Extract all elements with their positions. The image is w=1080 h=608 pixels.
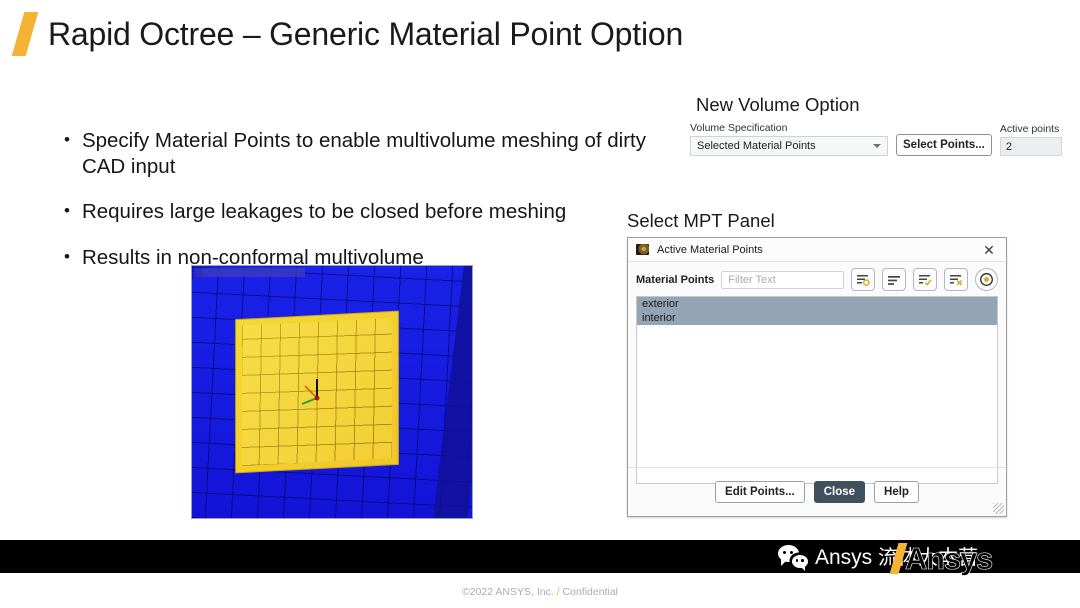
footer-separator: /	[557, 586, 560, 598]
slide-canvas: Rapid Octree – Generic Material Point Op…	[0, 0, 1080, 608]
bullet-icon: •	[64, 199, 70, 222]
bullet-text: Requires large leakages to be closed bef…	[82, 199, 664, 225]
bullet-icon: •	[64, 245, 70, 268]
list-check-icon[interactable]	[913, 268, 937, 291]
volume-specification-group: Volume Specification Selected Material P…	[690, 122, 888, 156]
mesh-screenshot-figure	[191, 265, 473, 519]
list-lines-icon[interactable]	[882, 268, 906, 291]
dialog-titlebar[interactable]: Active Material Points ✕	[628, 238, 1006, 262]
bullet-text: Specify Material Points to enable multiv…	[82, 128, 664, 180]
axis-triad-icon	[300, 374, 334, 408]
dialog-footer: Edit Points... Close Help	[628, 467, 1006, 516]
wechat-account-prefix: Ansys	[815, 546, 878, 569]
footer: ©2022 ANSYS, Inc. / Confidential	[0, 586, 1080, 598]
list-item[interactable]: interior	[637, 311, 997, 325]
dialog-title-text: Active Material Points	[657, 244, 980, 256]
accent-slash-icon	[12, 12, 39, 56]
edit-points-button[interactable]: Edit Points...	[715, 481, 805, 503]
active-points-group: Active points 2	[1000, 123, 1062, 156]
filter-toolbar: Material Points Filter Text	[628, 262, 1006, 296]
list-item: • Specify Material Points to enable mult…	[64, 128, 664, 180]
footer-copyright: ©2022 ANSYS, Inc.	[462, 586, 554, 598]
bullet-icon: •	[64, 128, 70, 151]
volume-specification-label: Volume Specification	[690, 122, 888, 134]
help-button[interactable]: Help	[874, 481, 919, 503]
volume-specification-value: Selected Material Points	[697, 140, 816, 152]
active-material-points-dialog: Active Material Points ✕ Material Points…	[627, 237, 1007, 517]
select-points-button[interactable]: Select Points...	[896, 134, 992, 156]
active-points-value: 2	[1000, 137, 1062, 156]
close-button[interactable]: Close	[814, 481, 865, 503]
list-item: • Requires large leakages to be closed b…	[64, 199, 664, 225]
filter-placeholder: Filter Text	[728, 274, 775, 286]
list-item[interactable]: exterior	[637, 297, 997, 311]
title-text: Rapid Octree – Generic Material Point Op…	[48, 18, 683, 50]
wechat-icon	[778, 545, 808, 569]
list-add-icon[interactable]	[851, 268, 875, 291]
ansys-logo: Ansys	[894, 543, 992, 574]
select-mpt-panel-heading: Select MPT Panel	[627, 210, 775, 232]
new-volume-option-panel: New Volume Option Volume Specification S…	[690, 94, 1070, 156]
resize-grip[interactable]	[993, 503, 1004, 514]
filter-input[interactable]: Filter Text	[721, 271, 844, 289]
footer-classification: Confidential	[563, 586, 618, 598]
new-volume-option-heading: New Volume Option	[696, 94, 1070, 116]
ansys-logo-text: Ansys	[905, 543, 992, 574]
material-points-label: Material Points	[636, 274, 714, 286]
viewport-overlay-text	[195, 268, 305, 277]
volume-specification-select[interactable]: Selected Material Points	[690, 136, 888, 156]
list-remove-icon[interactable]	[944, 268, 968, 291]
active-points-label: Active points	[1000, 123, 1062, 135]
target-icon[interactable]	[975, 268, 998, 291]
close-icon[interactable]: ✕	[980, 241, 998, 259]
application-icon	[636, 244, 649, 255]
page-title: Rapid Octree – Generic Material Point Op…	[18, 12, 683, 56]
chevron-down-icon	[873, 144, 881, 148]
material-points-listbox[interactable]: exterior interior	[636, 296, 998, 484]
